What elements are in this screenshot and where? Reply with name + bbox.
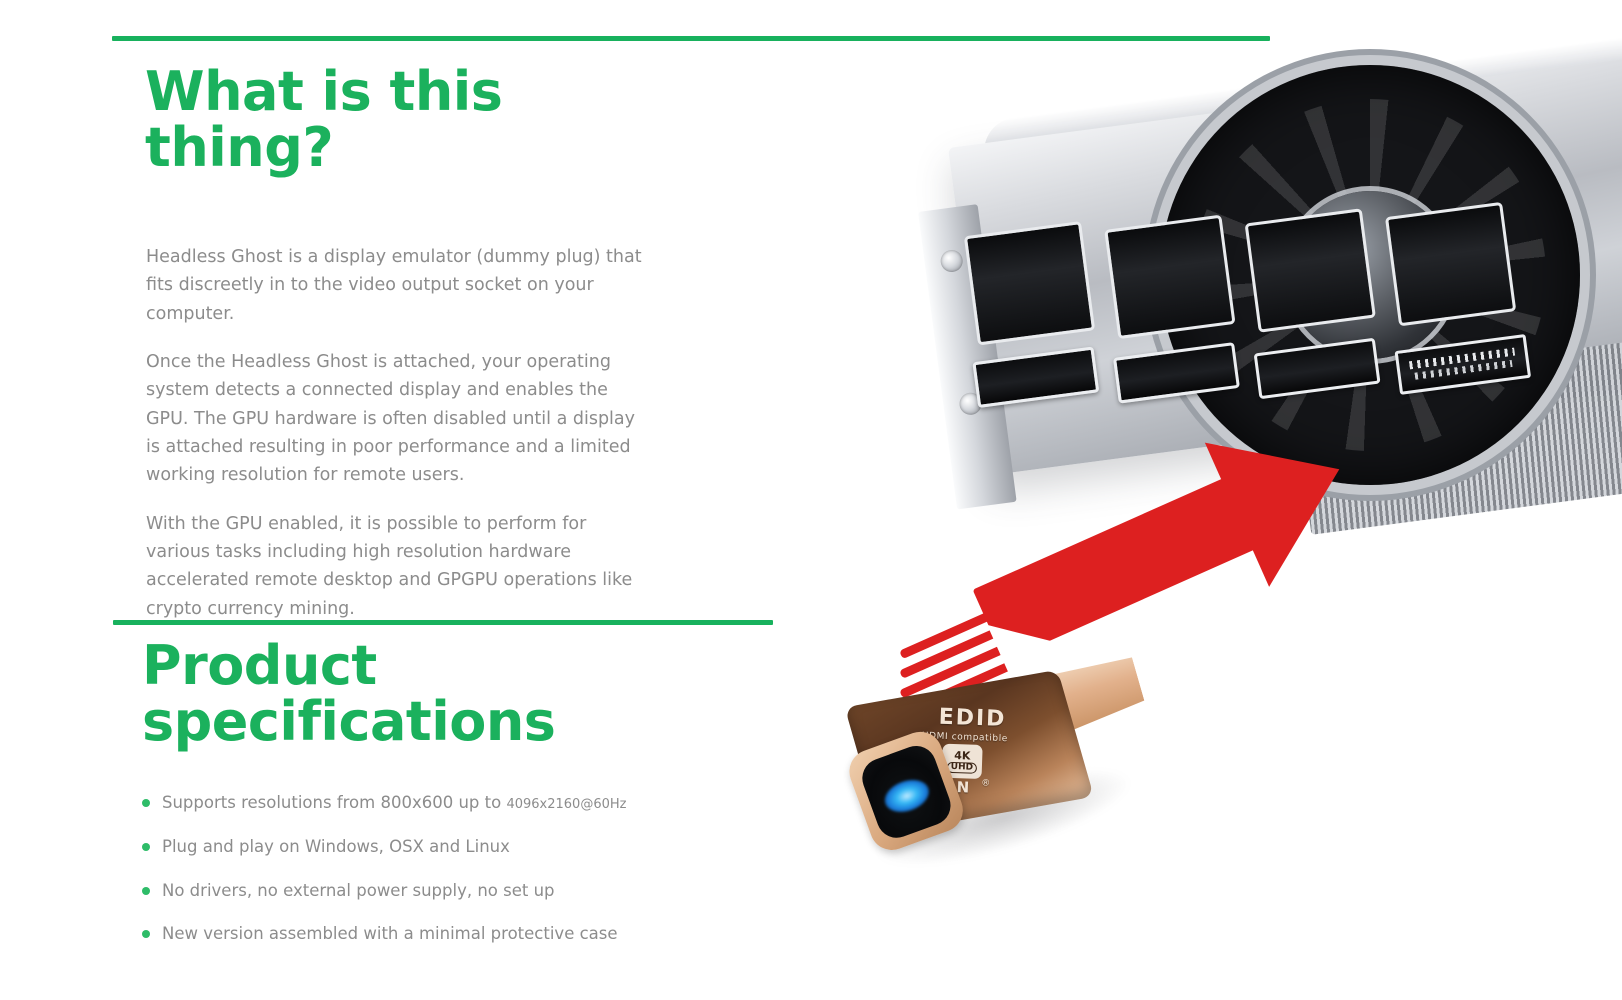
exhaust-vent <box>1245 208 1376 332</box>
spec-text: New version assembled with a minimal pro… <box>162 924 618 943</box>
bullet-dot-icon <box>142 799 150 807</box>
specs-heading: Product specifications <box>142 638 702 750</box>
displayport-3 <box>1254 338 1381 400</box>
displayport-2 <box>1113 342 1240 404</box>
about-paragraph-1: Headless Ghost is a display emulator (du… <box>146 243 646 328</box>
product-illustration: EDID HDMI compatible 4K UHD FUERAN ® <box>820 0 1622 1000</box>
displayport-1 <box>972 346 1099 408</box>
spec-list-item: No drivers, no external power supply, no… <box>142 881 702 901</box>
badge-uhd-text: UHD <box>947 761 978 773</box>
specs-list: Supports resolutions from 800x600 up to … <box>142 793 702 968</box>
dongle-image: EDID HDMI compatible 4K UHD FUERAN ® <box>829 626 1201 909</box>
exhaust-vent <box>1385 202 1516 326</box>
spec-list-item: Supports resolutions from 800x600 up to … <box>142 793 702 813</box>
bullet-dot-icon <box>142 843 150 851</box>
exhaust-vent <box>964 221 1095 345</box>
bracket-screw-icon <box>939 249 964 274</box>
spec-text: No drivers, no external power supply, no… <box>162 881 555 900</box>
spec-text: Plug and play on Windows, OSX and Linux <box>162 837 510 856</box>
hdmi-port <box>1395 334 1532 395</box>
about-paragraph-2: Once the Headless Ghost is attached, you… <box>146 348 646 490</box>
spec-emphasis: 4096x2160@60Hz <box>506 797 626 812</box>
bullet-dot-icon <box>142 930 150 938</box>
status-led-icon <box>880 774 933 818</box>
dongle-lens-window <box>857 740 956 843</box>
spec-list-item: Plug and play on Windows, OSX and Linux <box>142 837 702 857</box>
spec-list-item: New version assembled with a minimal pro… <box>142 924 702 944</box>
content-column: What is this thing? Headless Ghost is a … <box>0 0 820 1000</box>
spec-text: Supports resolutions from 800x600 up to <box>162 793 506 812</box>
exhaust-vent <box>1104 215 1235 339</box>
dongle-edid-label: EDID <box>938 705 1007 732</box>
bullet-dot-icon <box>142 887 150 895</box>
badge-4k-text: 4K <box>954 750 971 762</box>
product-info-page: What is this thing? Headless Ghost is a … <box>0 0 1622 1000</box>
dongle-registered-mark: ® <box>981 779 990 789</box>
about-heading: What is this thing? <box>145 64 665 176</box>
about-paragraph-3: With the GPU enabled, it is possible to … <box>146 510 646 623</box>
middle-divider-rule <box>113 620 773 625</box>
about-body-copy: Headless Ghost is a display emulator (du… <box>146 243 646 623</box>
